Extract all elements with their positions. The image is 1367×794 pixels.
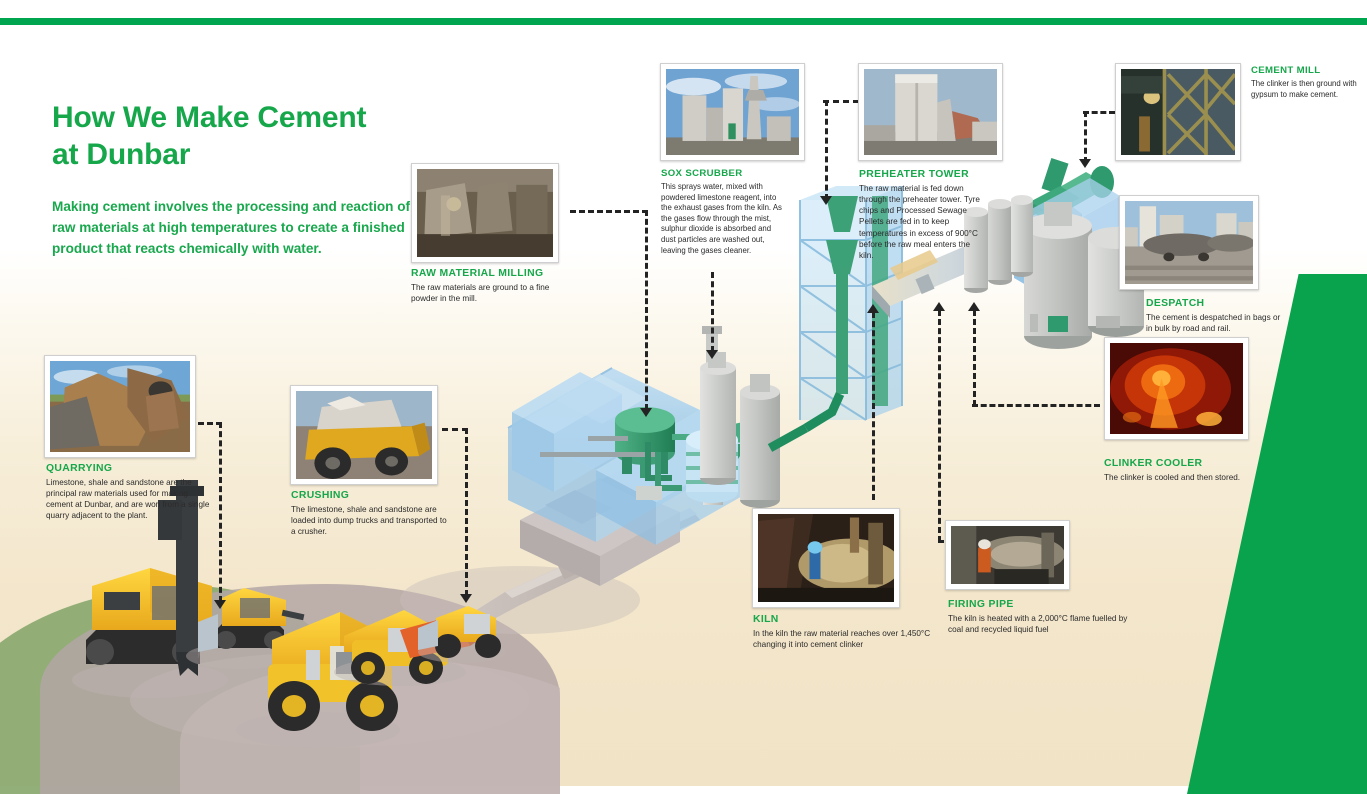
callout-sox-scrubber: SOX SCRUBBER This sprays water, mixed wi… <box>661 168 783 256</box>
callout-cement-mill-title: CEMENT MILL <box>1251 65 1361 77</box>
callout-sox-scrubber-title: SOX SCRUBBER <box>661 168 783 180</box>
callout-cement-mill-body: The clinker is then ground with gypsum t… <box>1251 79 1361 100</box>
callout-crushing-body: The limestone, shale and sandstone are l… <box>291 504 451 537</box>
callout-despatch-body: The cement is despatched in bags or in b… <box>1146 312 1281 334</box>
connector-crushing-down <box>465 428 468 596</box>
arrow-cementmill <box>1079 159 1091 168</box>
arrow-kiln <box>867 304 879 313</box>
photo-firing-pipe[interactable] <box>945 520 1070 590</box>
photo-sox-scrubber[interactable] <box>660 63 805 161</box>
infographic-page: How We Make Cementat Dunbar Making cemen… <box>0 0 1367 794</box>
photo-sox-scrubber-image <box>666 69 799 155</box>
photo-crushing[interactable] <box>290 385 438 485</box>
callout-kiln-title: KILN <box>753 613 933 626</box>
quarry-terrain <box>0 560 560 794</box>
callout-crushing: CRUSHING The limestone, shale and sandst… <box>291 489 451 537</box>
callout-sox-scrubber-body: This sprays water, mixed with powdered l… <box>661 182 783 256</box>
top-rule <box>0 18 1367 25</box>
photo-crushing-image <box>296 391 432 479</box>
page-title: How We Make Cementat Dunbar <box>52 100 452 173</box>
photo-despatch-image <box>1125 201 1253 284</box>
callout-clinker-cooler-body: The clinker is cooled and then stored. <box>1104 472 1274 483</box>
connector-kiln-up <box>872 312 875 500</box>
page-intro: Making cement involves the processing an… <box>52 197 452 259</box>
connector-cooler-up <box>973 310 976 406</box>
photo-clinker-cooler-image <box>1110 343 1243 434</box>
callout-firing-pipe: FIRING PIPE The kiln is heated with a 2,… <box>948 598 1138 635</box>
callout-quarrying: QUARRYING Limestone, shale and sandstone… <box>46 462 211 522</box>
callout-despatch: DESPATCH The cement is despatched in bag… <box>1146 297 1281 334</box>
photo-quarrying-image <box>50 361 190 452</box>
arrow-cooler <box>968 302 980 311</box>
connector-sox-down <box>711 272 714 352</box>
photo-preheater-tower[interactable] <box>858 63 1003 161</box>
photo-raw-material-milling-image <box>417 169 553 257</box>
callout-clinker-cooler: CLINKER COOLER The clinker is cooled and… <box>1104 457 1274 483</box>
callout-kiln-body: In the kiln the raw material reaches ove… <box>753 628 933 650</box>
callout-kiln: KILN In the kiln the raw material reache… <box>753 613 933 650</box>
photo-cement-mill[interactable] <box>1115 63 1241 161</box>
photo-raw-material-milling[interactable] <box>411 163 559 263</box>
connector-cementmill-left <box>1083 111 1115 114</box>
callout-raw-material-milling: RAW MATERIAL MILLING The raw materials a… <box>411 267 576 304</box>
photo-preheater-tower-image <box>864 69 997 155</box>
callout-clinker-cooler-title: CLINKER COOLER <box>1104 457 1274 470</box>
connector-cementmill-down <box>1084 111 1087 163</box>
photo-kiln[interactable] <box>752 508 900 608</box>
photo-kiln-image <box>758 514 894 602</box>
photo-quarrying[interactable] <box>44 355 196 458</box>
callout-raw-material-milling-title: RAW MATERIAL MILLING <box>411 267 576 280</box>
callout-raw-material-milling-body: The raw materials are ground to a fine p… <box>411 282 576 304</box>
connector-preheater-down <box>825 100 828 200</box>
photo-cement-mill-image <box>1121 69 1235 155</box>
callout-preheater-tower: PREHEATER TOWER The raw material is fed … <box>859 168 981 261</box>
callout-crushing-title: CRUSHING <box>291 489 451 502</box>
callout-quarrying-title: QUARRYING <box>46 462 211 475</box>
arrow-preheater <box>820 196 832 205</box>
callout-cement-mill: CEMENT MILL The clinker is then ground w… <box>1251 65 1361 100</box>
callout-firing-pipe-title: FIRING PIPE <box>948 598 1138 611</box>
arrow-sox <box>706 350 718 359</box>
arrow-crushing <box>460 594 472 603</box>
callout-quarrying-body: Limestone, shale and sandstone are the p… <box>46 477 211 522</box>
arrow-milling <box>640 408 652 417</box>
connector-quarrying-down <box>219 422 222 602</box>
callout-preheater-tower-title: PREHEATER TOWER <box>859 168 981 181</box>
callout-preheater-tower-body: The raw material is fed down through the… <box>859 183 981 261</box>
callout-despatch-title: DESPATCH <box>1146 297 1281 310</box>
connector-milling-right <box>570 210 648 213</box>
photo-firing-pipe-image <box>951 526 1064 584</box>
arrow-quarrying <box>214 600 226 609</box>
connector-milling-down <box>645 210 648 410</box>
connector-firing-up <box>938 310 941 542</box>
photo-despatch[interactable] <box>1119 195 1259 290</box>
callout-firing-pipe-body: The kiln is heated with a 2,000°C flame … <box>948 613 1138 635</box>
connector-cooler-left <box>972 404 1100 407</box>
connector-preheater-left <box>823 100 859 103</box>
arrow-firing <box>933 302 945 311</box>
page-title-block: How We Make Cementat Dunbar Making cemen… <box>52 100 452 259</box>
photo-clinker-cooler[interactable] <box>1104 337 1249 440</box>
